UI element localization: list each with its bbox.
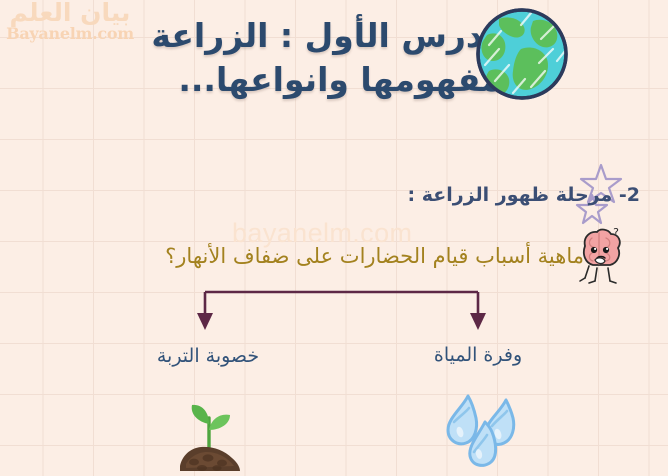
worksheet-page: بيان العلم Bayanelm.com bayanelm.com الد…: [0, 0, 668, 476]
svg-text:?: ?: [613, 226, 619, 239]
question-text: ماهية أسباب قيام الحضارات على ضفاف الأنه…: [165, 244, 584, 268]
seedling-icon: [168, 392, 252, 476]
globe-showing-americas-icon: [469, 1, 575, 107]
thinking-brain-icon: ?: [575, 226, 627, 286]
branch-label-soil-fertility: خصوبة التربة: [142, 345, 274, 367]
section-heading: 2- مرحلة ظهور الزراعة :: [408, 184, 640, 206]
branch-label-water-abundance: وفرة المياة: [418, 344, 538, 366]
water-droplets-icon: [438, 388, 530, 472]
